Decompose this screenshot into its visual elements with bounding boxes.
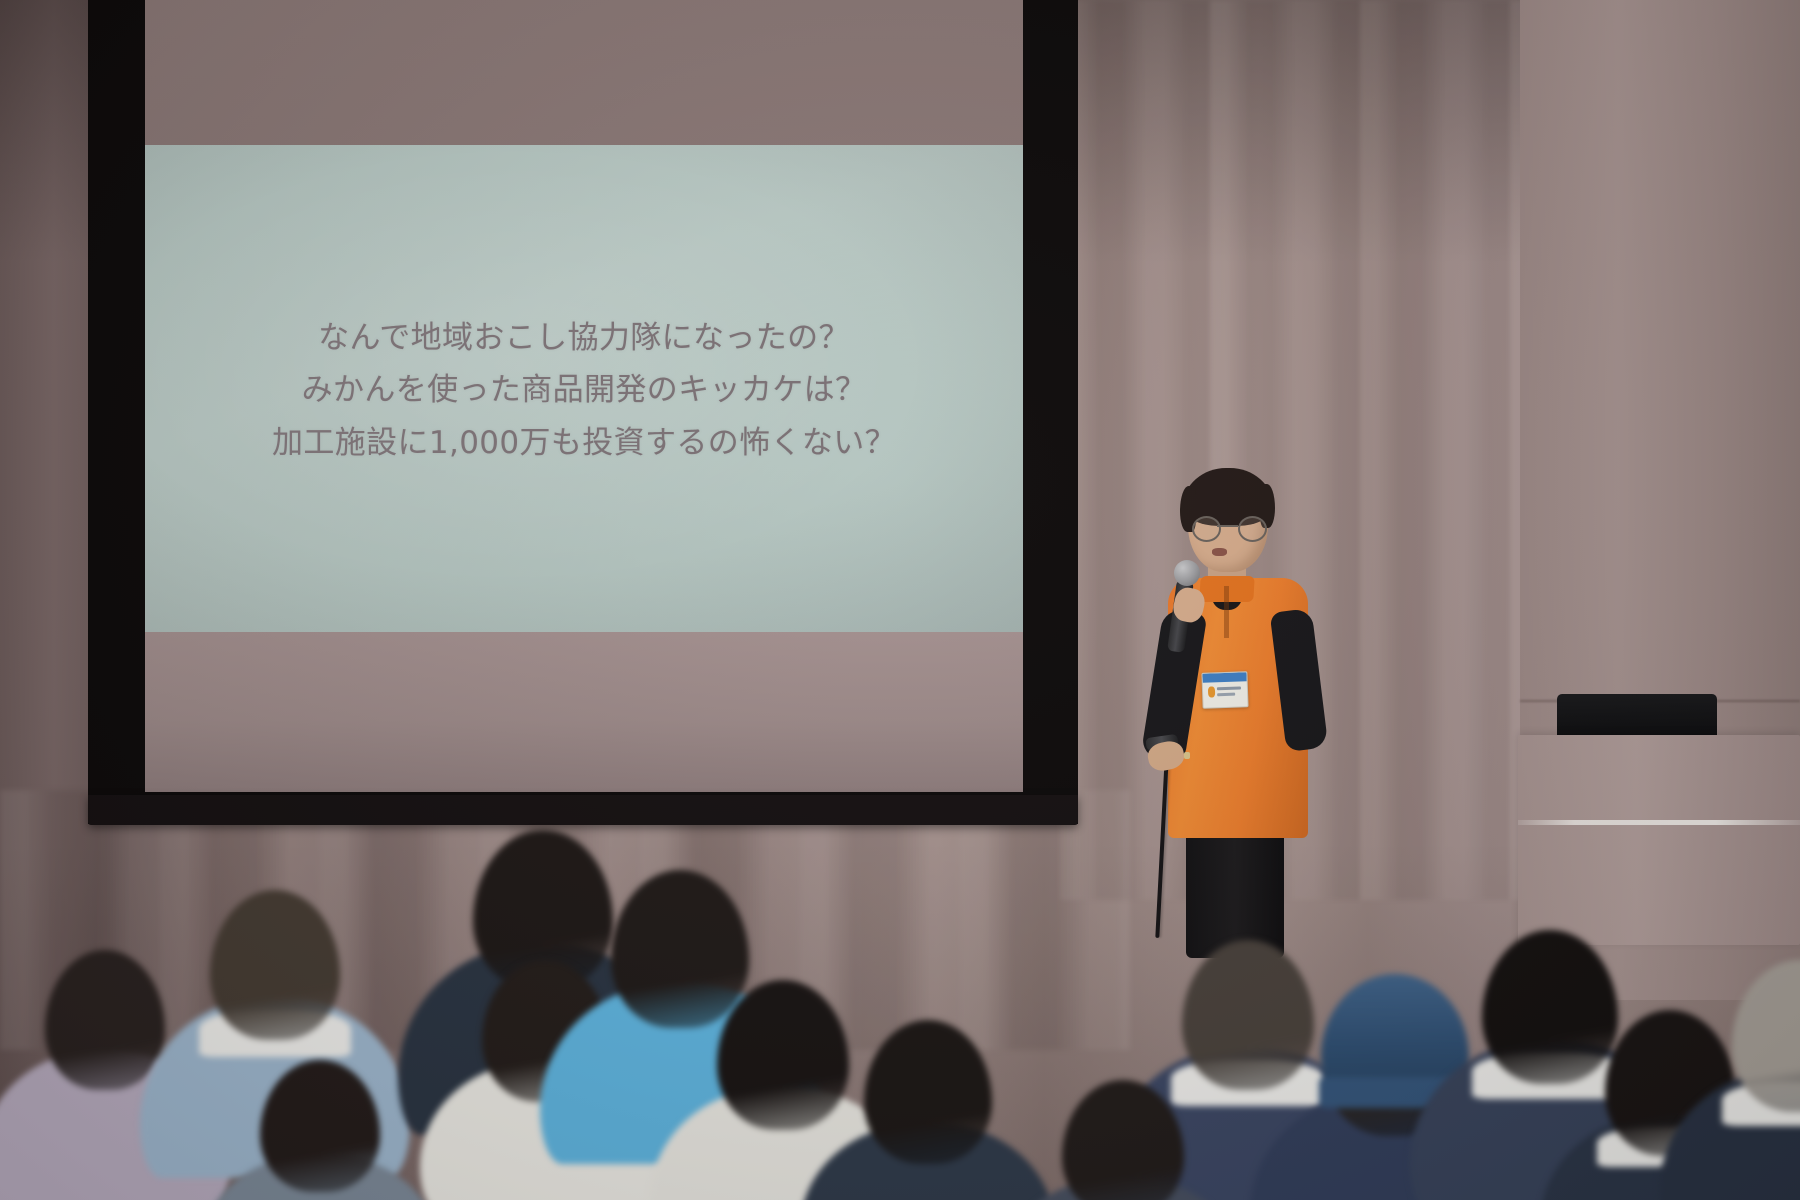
- presentation-slide: なんで地域おこし協力隊になったの？ みかんを使った商品開発のキッカケは？ 加工施…: [145, 145, 1023, 632]
- presentation-photo: なんで地域おこし協力隊になったの？ みかんを使った商品開発のキッカケは？ 加工施…: [0, 0, 1800, 1200]
- audience-member-head: [260, 1060, 380, 1192]
- audience: [0, 830, 1800, 1200]
- audience-member-13: [1660, 960, 1800, 1200]
- glasses-icon: [1190, 516, 1268, 538]
- slide-line-2: みかんを使った商品開発のキッカケは？: [272, 364, 896, 416]
- slide-line-1: なんで地域おこし協力隊になったの？: [272, 312, 896, 364]
- lectern-edge-highlight: [1518, 820, 1800, 825]
- name-badge: [1201, 671, 1248, 709]
- presenter-placket: [1224, 586, 1229, 638]
- glasses-lens-right: [1238, 516, 1267, 542]
- name-badge-header: [1202, 672, 1246, 683]
- name-badge-logo-icon: [1208, 686, 1215, 697]
- audience-member-head: [864, 1020, 992, 1164]
- presenter-mouth: [1212, 548, 1227, 556]
- name-badge-text-line-2: [1217, 693, 1235, 697]
- projection-screen-bottom-bar: [88, 795, 1078, 825]
- projection-screen-surface: なんで地域おこし協力隊になったの？ みかんを使った商品開発のキッカケは？ 加工施…: [145, 0, 1023, 792]
- glasses-lens-left: [1192, 516, 1221, 542]
- slide-line-3: 加工施設に1,000万も投資するの怖くない？: [272, 417, 896, 469]
- microphone-icon: [1174, 560, 1200, 586]
- slide-text-block: なんで地域おこし協力隊になったの？ みかんを使った商品開発のキッカケは？ 加工施…: [272, 312, 896, 468]
- glasses-bridge: [1217, 525, 1238, 527]
- audience-member-head: [1062, 1080, 1184, 1200]
- presenter-ring: [1184, 752, 1190, 759]
- name-badge-text-line-1: [1217, 686, 1241, 690]
- audience-member-14: [1000, 1080, 1245, 1200]
- screen-lower-band: [145, 632, 1023, 792]
- audience-member-head: [210, 890, 340, 1040]
- presenter: [1150, 460, 1410, 890]
